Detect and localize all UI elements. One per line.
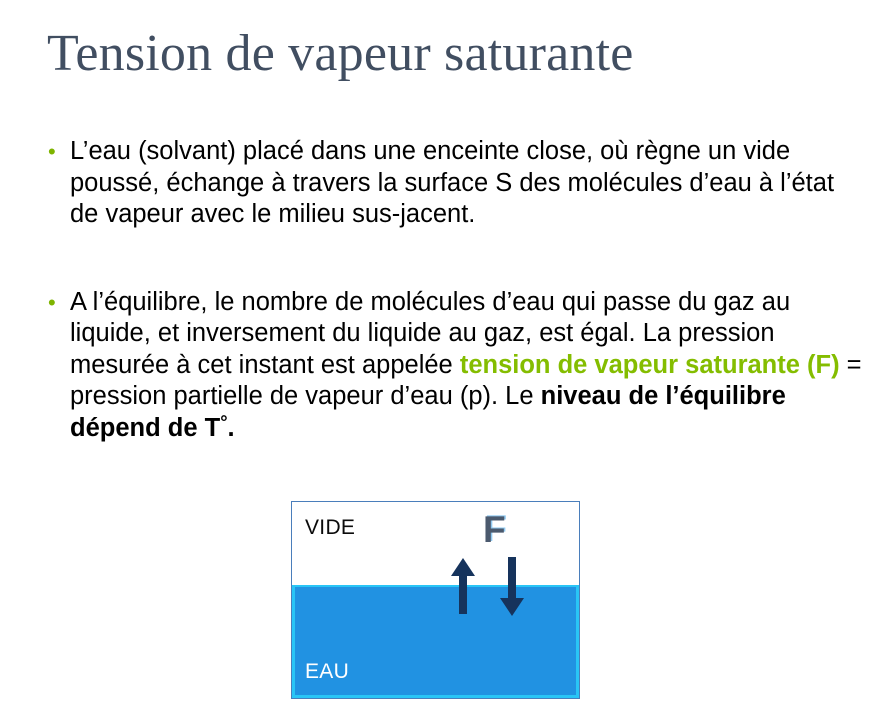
bullet-text-equilibre: A l’équilibre, le nombre de molécules d’…	[70, 287, 864, 445]
body-bullet-list: • L’eau (solvant) placé dans une enceint…	[48, 136, 864, 444]
page-title: Tension de vapeur saturante	[47, 24, 634, 84]
bullet-dot-icon: •	[48, 136, 70, 168]
text-run-highlight-green: tension de vapeur saturante (F)	[460, 351, 840, 379]
vapor-space-label: VIDE	[305, 516, 355, 540]
condensation-arrow-down-icon	[498, 557, 526, 617]
degree-symbol: °	[220, 410, 227, 431]
list-item: • L’eau (solvant) placé dans une enceint…	[48, 136, 864, 231]
evaporation-arrow-up-icon	[449, 557, 477, 614]
bullet-text-enceinte-close: L’eau (solvant) placé dans une enceinte …	[70, 136, 864, 231]
force-label: F	[483, 510, 506, 550]
list-item: • A l’équilibre, le nombre de molécules …	[48, 287, 864, 445]
text-run: L’eau (solvant) placé dans une enceinte …	[70, 137, 834, 228]
text-run-bold: .	[228, 414, 235, 442]
vessel-diagram: VIDE EAU F	[291, 501, 580, 699]
bullet-dot-icon: •	[48, 287, 70, 319]
liquid-label: EAU	[305, 660, 349, 684]
